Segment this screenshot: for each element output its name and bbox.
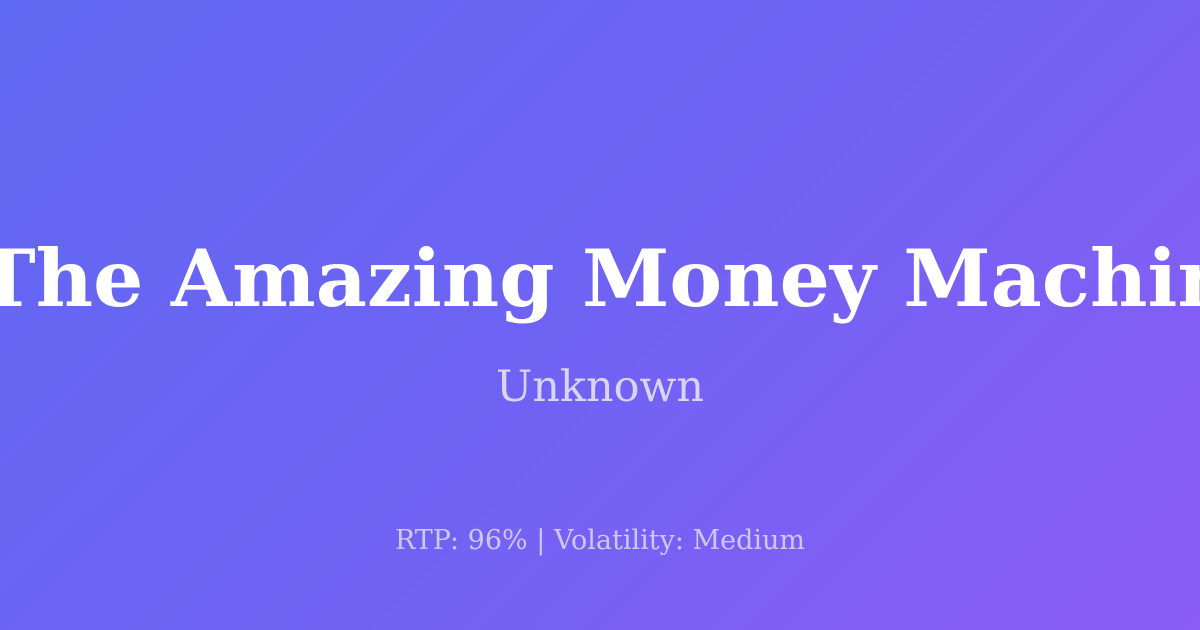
title-row: F0 B0 The Amazing Money Machine [0,232,1200,326]
subtitle: Unknown [0,362,1200,412]
game-stats-line: RTP: 96% | Volatility: Medium [0,525,1200,556]
og-share-card: F0 B0 The Amazing Money Machine Unknown … [0,0,1200,630]
page-title: The Amazing Money Machine [0,238,1200,321]
